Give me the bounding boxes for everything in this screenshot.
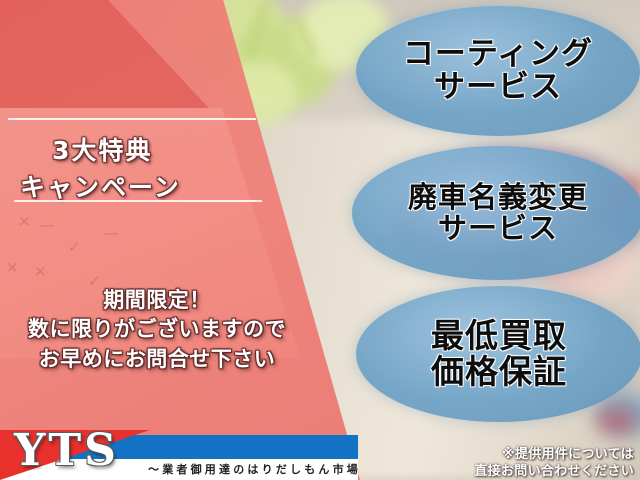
doodle-mark: ✓ — [68, 238, 81, 256]
campaign-headline-line2: キャンペーン — [20, 168, 181, 204]
benefit-badge-scrapping-line2: サービス — [438, 213, 558, 244]
campaign-headline-line1: 3大特典 — [52, 131, 152, 167]
background-red-accent — [596, 408, 636, 434]
doodle-mark: × — [6, 258, 19, 276]
doodle-mark: — — [40, 216, 55, 234]
notice-line1: 期間限定！ — [0, 284, 322, 314]
promo-banner: × × × ✓ ✓ — — 3大特典 キャンペーン 期間限定！ 数に限りがござい… — [0, 0, 640, 480]
notice-line3: お早めにお問合せ下さい — [0, 343, 322, 373]
doodle-mark: × — [18, 212, 31, 230]
notice-line2: 数に限りがございますので — [0, 313, 322, 343]
benefit-badge-scrapping: 廃車名義変更 サービス — [352, 146, 640, 280]
doodle-mark: × — [34, 262, 47, 280]
benefit-badge-price-guarantee: 最低買取 価格保証 — [356, 286, 640, 422]
benefit-badge-coating-line1: コーティング — [403, 38, 593, 71]
brand-tagline: ～業者御用達のはりだしもん市場 — [148, 461, 361, 477]
benefit-badge-price-guarantee-line2: 価格保証 — [431, 354, 567, 390]
disclaimer-line2: 直接お問い合わせください — [474, 460, 634, 479]
headline-rule-bottom — [14, 200, 262, 202]
benefit-badge-coating-line2: サービス — [434, 71, 562, 104]
doodle-mark: — — [104, 224, 119, 242]
benefit-badge-coating: コーティング サービス — [356, 6, 640, 136]
brand-logo: YTS — [14, 429, 119, 473]
benefit-badge-scrapping-line1: 廃車名義変更 — [408, 182, 588, 213]
benefit-badge-price-guarantee-line1: 最低買取 — [431, 318, 567, 354]
headline-rule-top — [8, 118, 256, 120]
